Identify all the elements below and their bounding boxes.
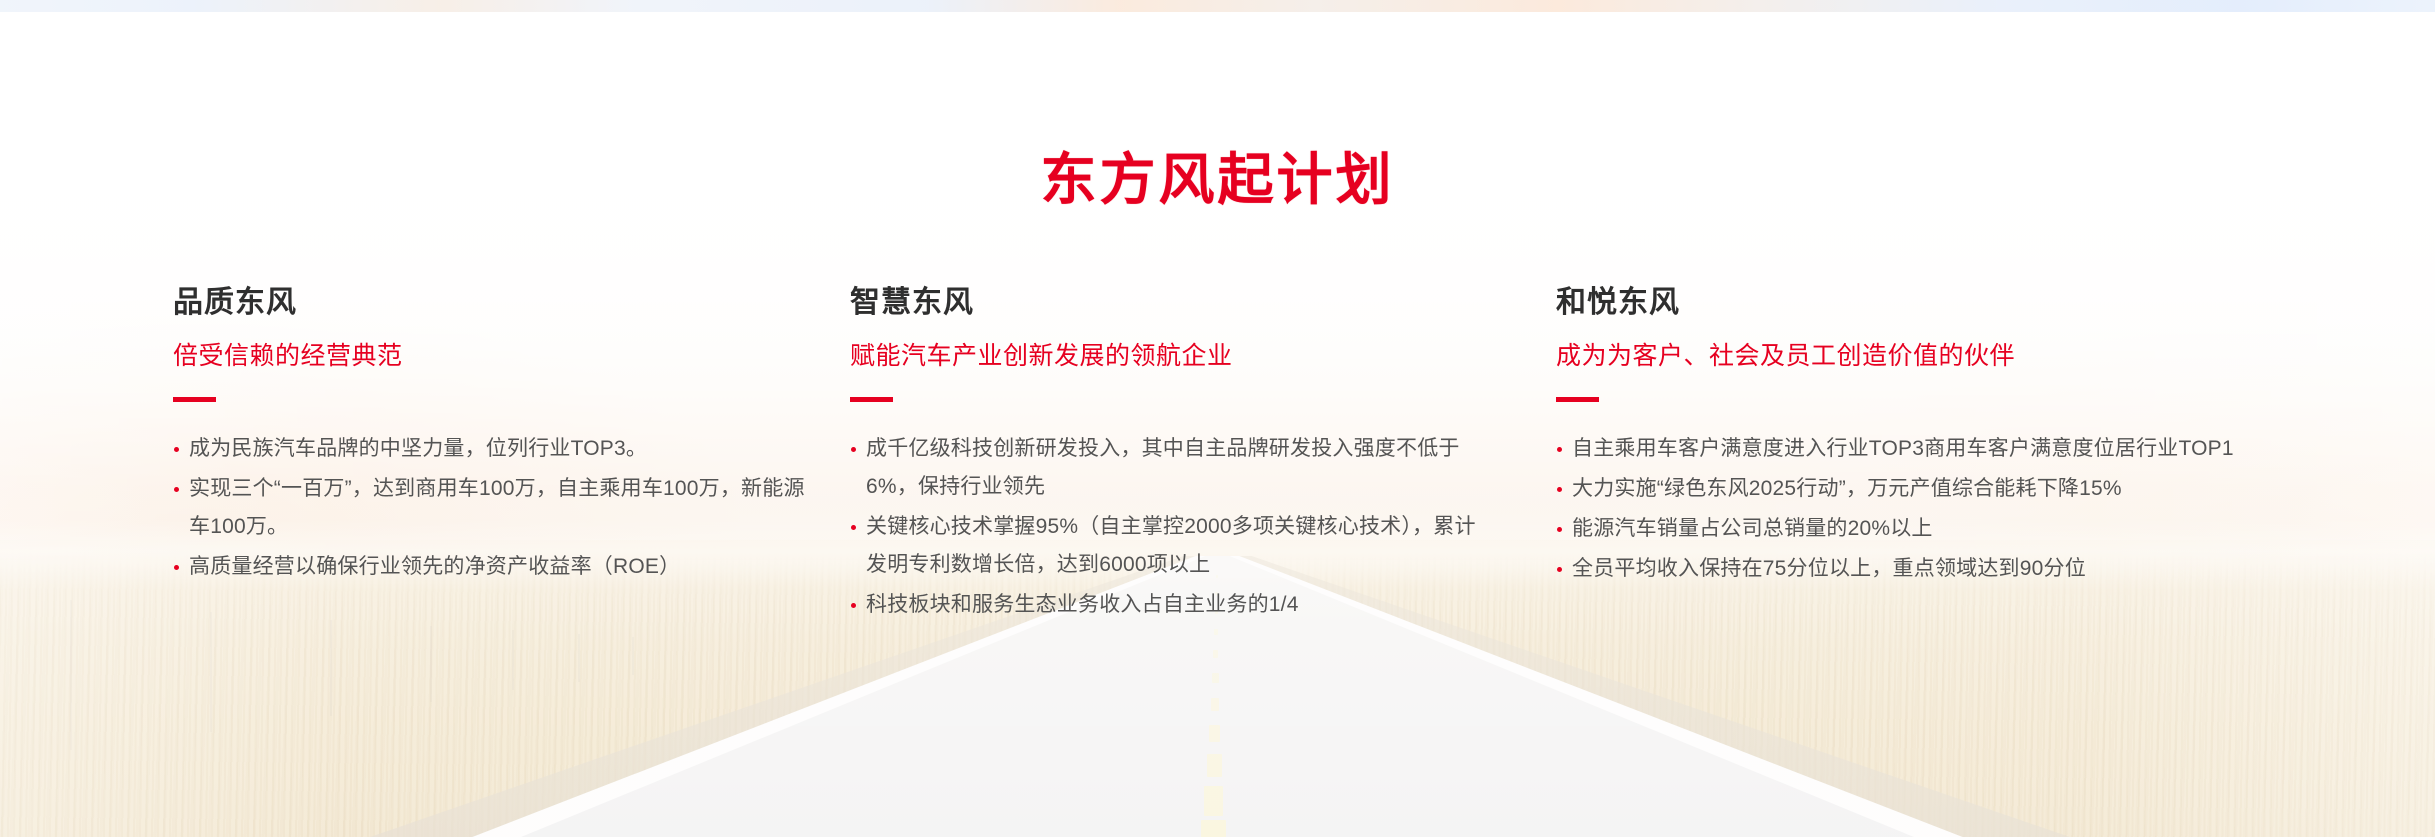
page-title: 东方风起计划 bbox=[0, 135, 2435, 216]
list-item: 高质量经营以确保行业领先的净资产收益率（ROE） bbox=[173, 548, 813, 586]
column-subtitle: 成为为客户、社会及员工创造价值的伙伴 bbox=[1556, 341, 2316, 371]
column-heading: 品质东风 bbox=[173, 286, 813, 319]
list-item: 大力实施“绿色东风2025行动”，万元产值综合能耗下降15% bbox=[1556, 470, 2316, 508]
column-heading: 和悦东风 bbox=[1556, 286, 2316, 319]
column-divider bbox=[850, 397, 893, 402]
list-item: 全员平均收入保持在75分位以上，重点领域达到90分位 bbox=[1556, 550, 2316, 588]
list-item: 能源汽车销量占公司总销量的20%以上 bbox=[1556, 510, 2316, 548]
list-item: 关键核心技术掌握95%（自主掌控2000多项关键核心技术），累计发明专利数增长倍… bbox=[850, 508, 1490, 584]
column-divider bbox=[173, 397, 216, 402]
list-item: 实现三个“一百万”，达到商用车100万，自主乘用车100万，新能源车100万。 bbox=[173, 470, 813, 546]
list-item: 成为民族汽车品牌的中坚力量，位列行业TOP3。 bbox=[173, 430, 813, 468]
column-bullet-list: 成为民族汽车品牌的中坚力量，位列行业TOP3。 实现三个“一百万”，达到商用车1… bbox=[173, 430, 813, 586]
list-item: 自主乘用车客户满意度进入行业TOP3商用车客户满意度位居行业TOP1 bbox=[1556, 430, 2316, 468]
plan-column-quality: 品质东风 倍受信赖的经营典范 成为民族汽车品牌的中坚力量，位列行业TOP3。 实… bbox=[173, 286, 813, 588]
list-item: 成千亿级科技创新研发投入，其中自主品牌研发投入强度不低于6%，保持行业领先 bbox=[850, 430, 1490, 506]
plan-columns: 品质东风 倍受信赖的经营典范 成为民族汽车品牌的中坚力量，位列行业TOP3。 实… bbox=[0, 286, 2435, 746]
column-bullet-list: 自主乘用车客户满意度进入行业TOP3商用车客户满意度位居行业TOP1 大力实施“… bbox=[1556, 430, 2316, 588]
column-subtitle: 赋能汽车产业创新发展的领航企业 bbox=[850, 341, 1490, 371]
plan-column-harmony: 和悦东风 成为为客户、社会及员工创造价值的伙伴 自主乘用车客户满意度进入行业TO… bbox=[1556, 286, 2316, 590]
column-subtitle: 倍受信赖的经营典范 bbox=[173, 341, 813, 371]
plan-column-intelligence: 智慧东风 赋能汽车产业创新发展的领航企业 成千亿级科技创新研发投入，其中自主品牌… bbox=[850, 286, 1490, 626]
column-divider bbox=[1556, 397, 1599, 402]
column-heading: 智慧东风 bbox=[850, 286, 1490, 319]
column-bullet-list: 成千亿级科技创新研发投入，其中自主品牌研发投入强度不低于6%，保持行业领先 关键… bbox=[850, 430, 1490, 624]
list-item: 科技板块和服务生态业务收入占自主业务的1/4 bbox=[850, 586, 1490, 624]
